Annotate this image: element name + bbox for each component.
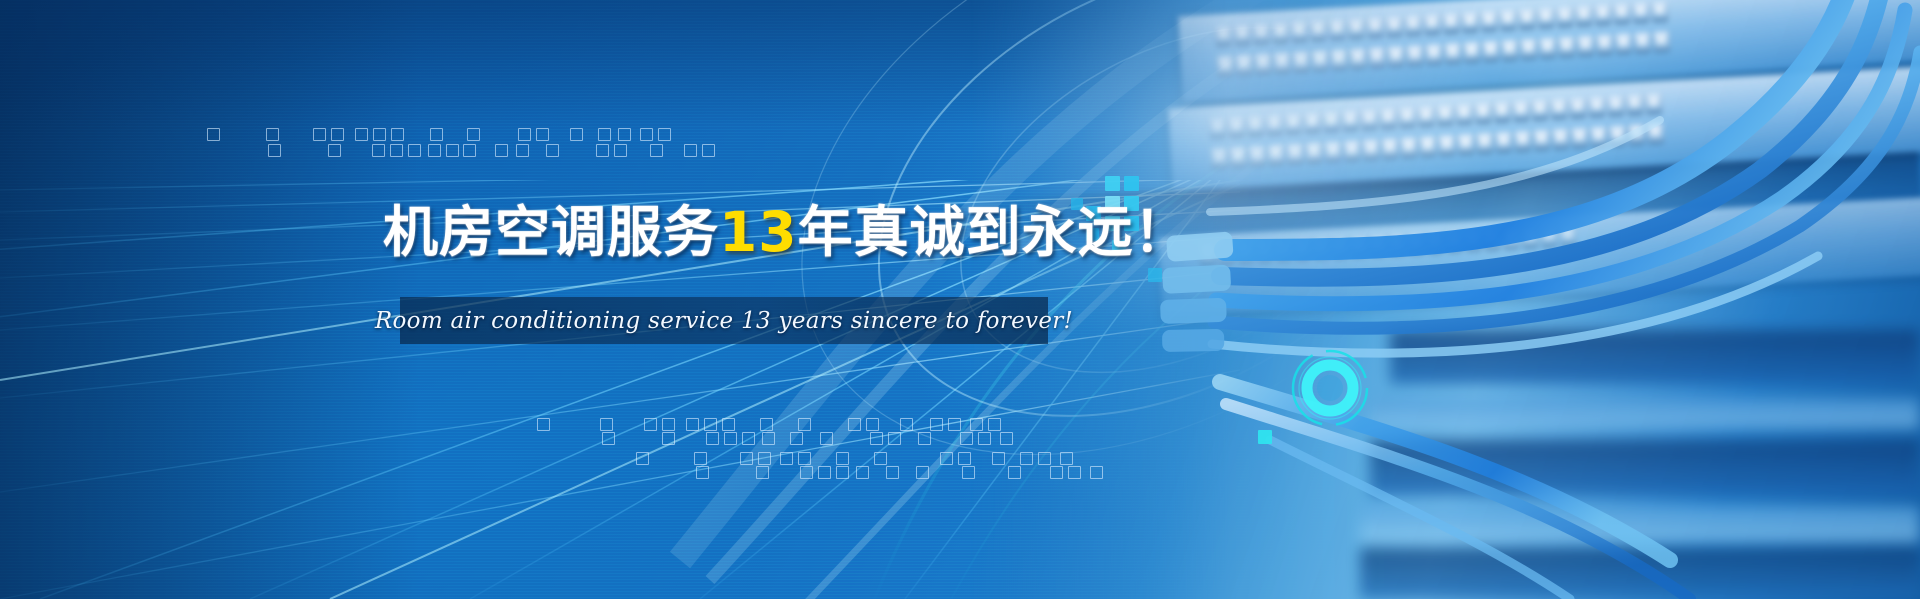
headline-highlight: 13: [719, 200, 798, 264]
headline-before: 机房空调服务: [383, 200, 719, 264]
ring-hud-icon: [1287, 345, 1373, 431]
headline: 机房空调服务13年真诚到永远！: [383, 205, 1190, 260]
headline-after: 年真诚到永远！: [798, 200, 1190, 264]
hero-banner: 机房空调服务13年真诚到永远！ Room air conditioning se…: [0, 0, 1920, 599]
ethernet-cable-bundle: [970, 0, 1920, 599]
subtitle-text: Room air conditioning service 13 years s…: [400, 297, 1048, 344]
